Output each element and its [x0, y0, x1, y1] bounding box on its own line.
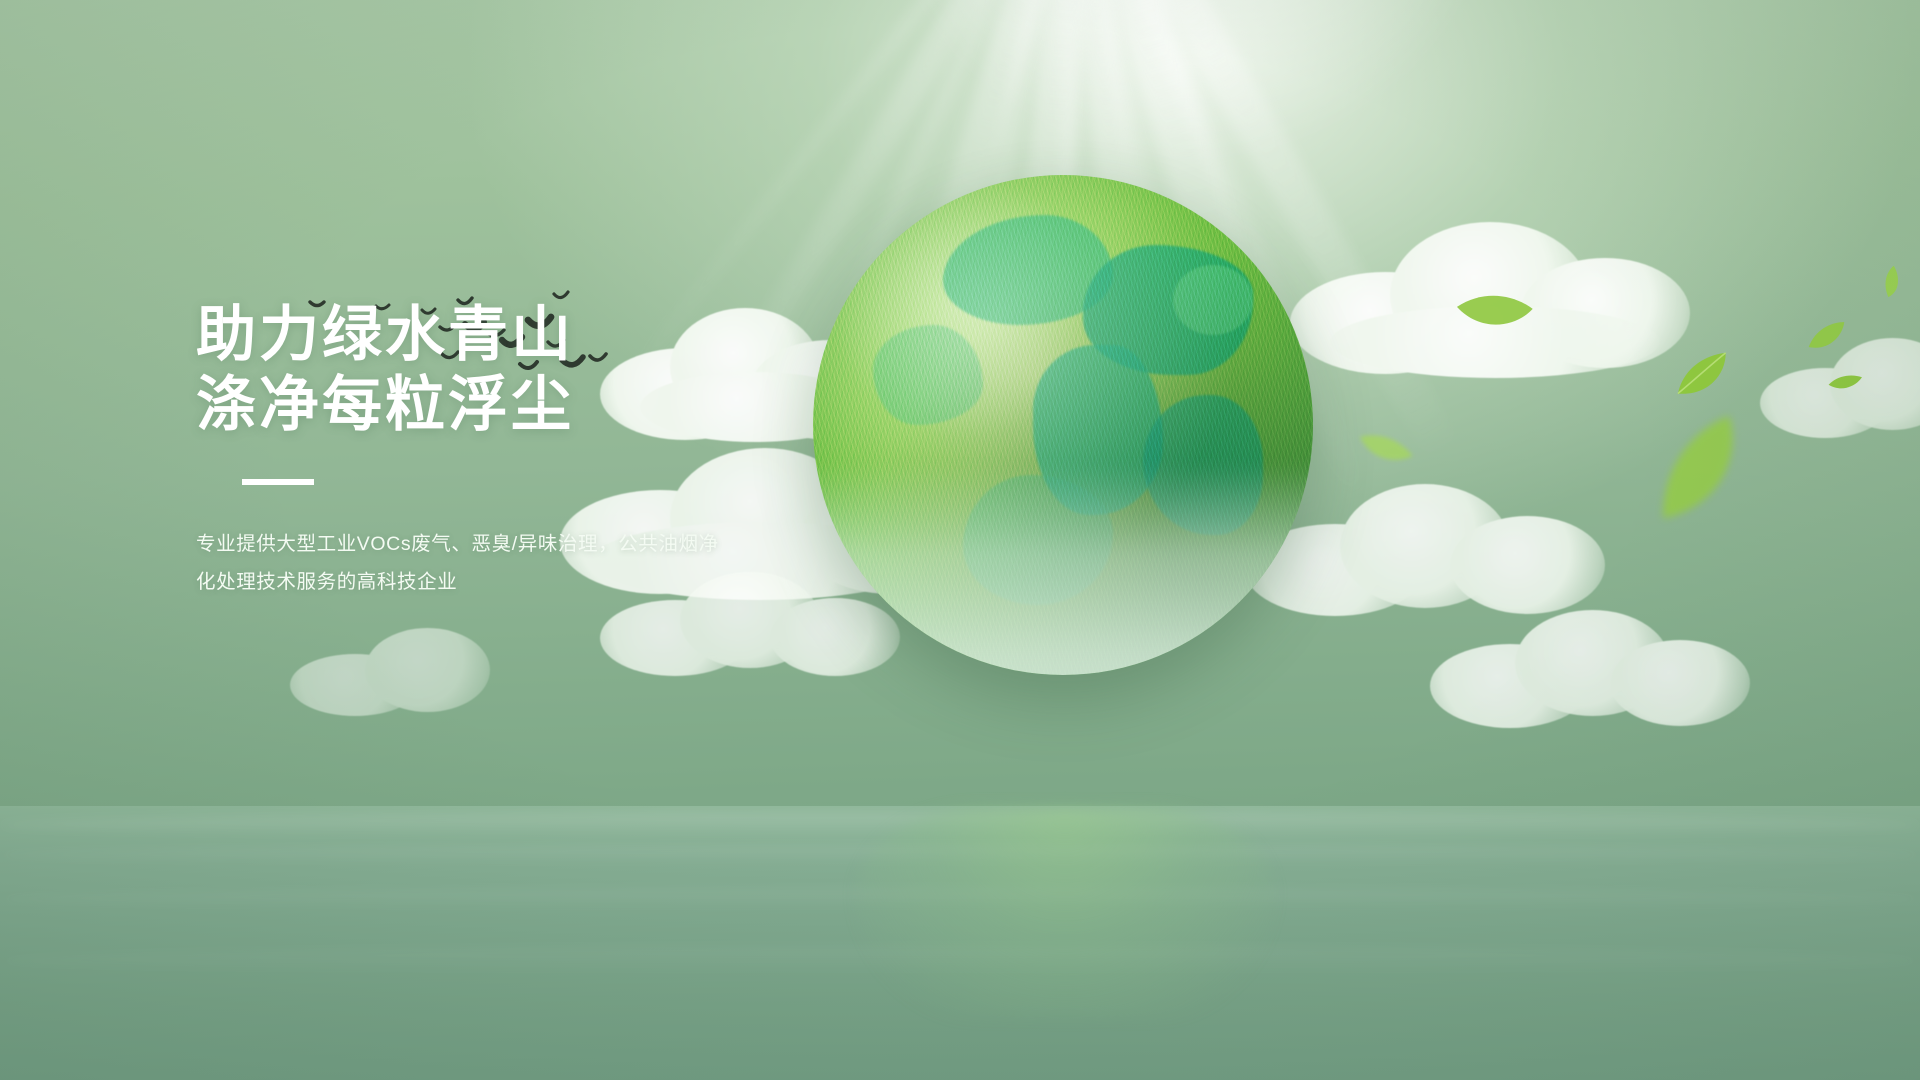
grass-globe-icon [813, 175, 1313, 675]
headline-line-2: 涤净每粒浮尘 [196, 370, 836, 440]
falling-leaf-icon [1827, 370, 1864, 397]
title-divider [242, 479, 314, 485]
falling-leaf-icon [1449, 273, 1538, 351]
falling-leaf-icon [1802, 318, 1851, 356]
globe-reflection [855, 808, 1275, 1018]
hero-banner: 助力绿水青山 涤净每粒浮尘 专业提供大型工业VOCs废气、恶臭/异味治理，公共油… [0, 0, 1920, 1080]
cloud-icon [1760, 330, 1920, 440]
banner-subtitle: 专业提供大型工业VOCs废气、恶臭/异味治理，公共油烟净 化处理技术服务的高科技… [196, 525, 736, 601]
falling-leaf-icon [1874, 263, 1913, 303]
falling-leaf-icon [1350, 416, 1417, 482]
headline-line-1: 助力绿水青山 [196, 300, 836, 370]
subtitle-line-1: 专业提供大型工业VOCs废气、恶臭/异味治理，公共油烟净 [196, 525, 736, 563]
cloud-icon [290, 620, 540, 720]
cloud-icon [1430, 600, 1750, 730]
cloud-icon [1290, 210, 1690, 380]
banner-copy: 助力绿水青山 涤净每粒浮尘 专业提供大型工业VOCs废气、恶臭/异味治理，公共油… [196, 300, 836, 601]
falling-leaf-icon [1626, 404, 1774, 542]
page-title: 助力绿水青山 涤净每粒浮尘 [196, 300, 836, 439]
falling-leaf-icon [1667, 346, 1740, 407]
subtitle-line-2: 化处理技术服务的高科技企业 [196, 563, 736, 601]
sun-glow-icon [880, 0, 1500, 160]
